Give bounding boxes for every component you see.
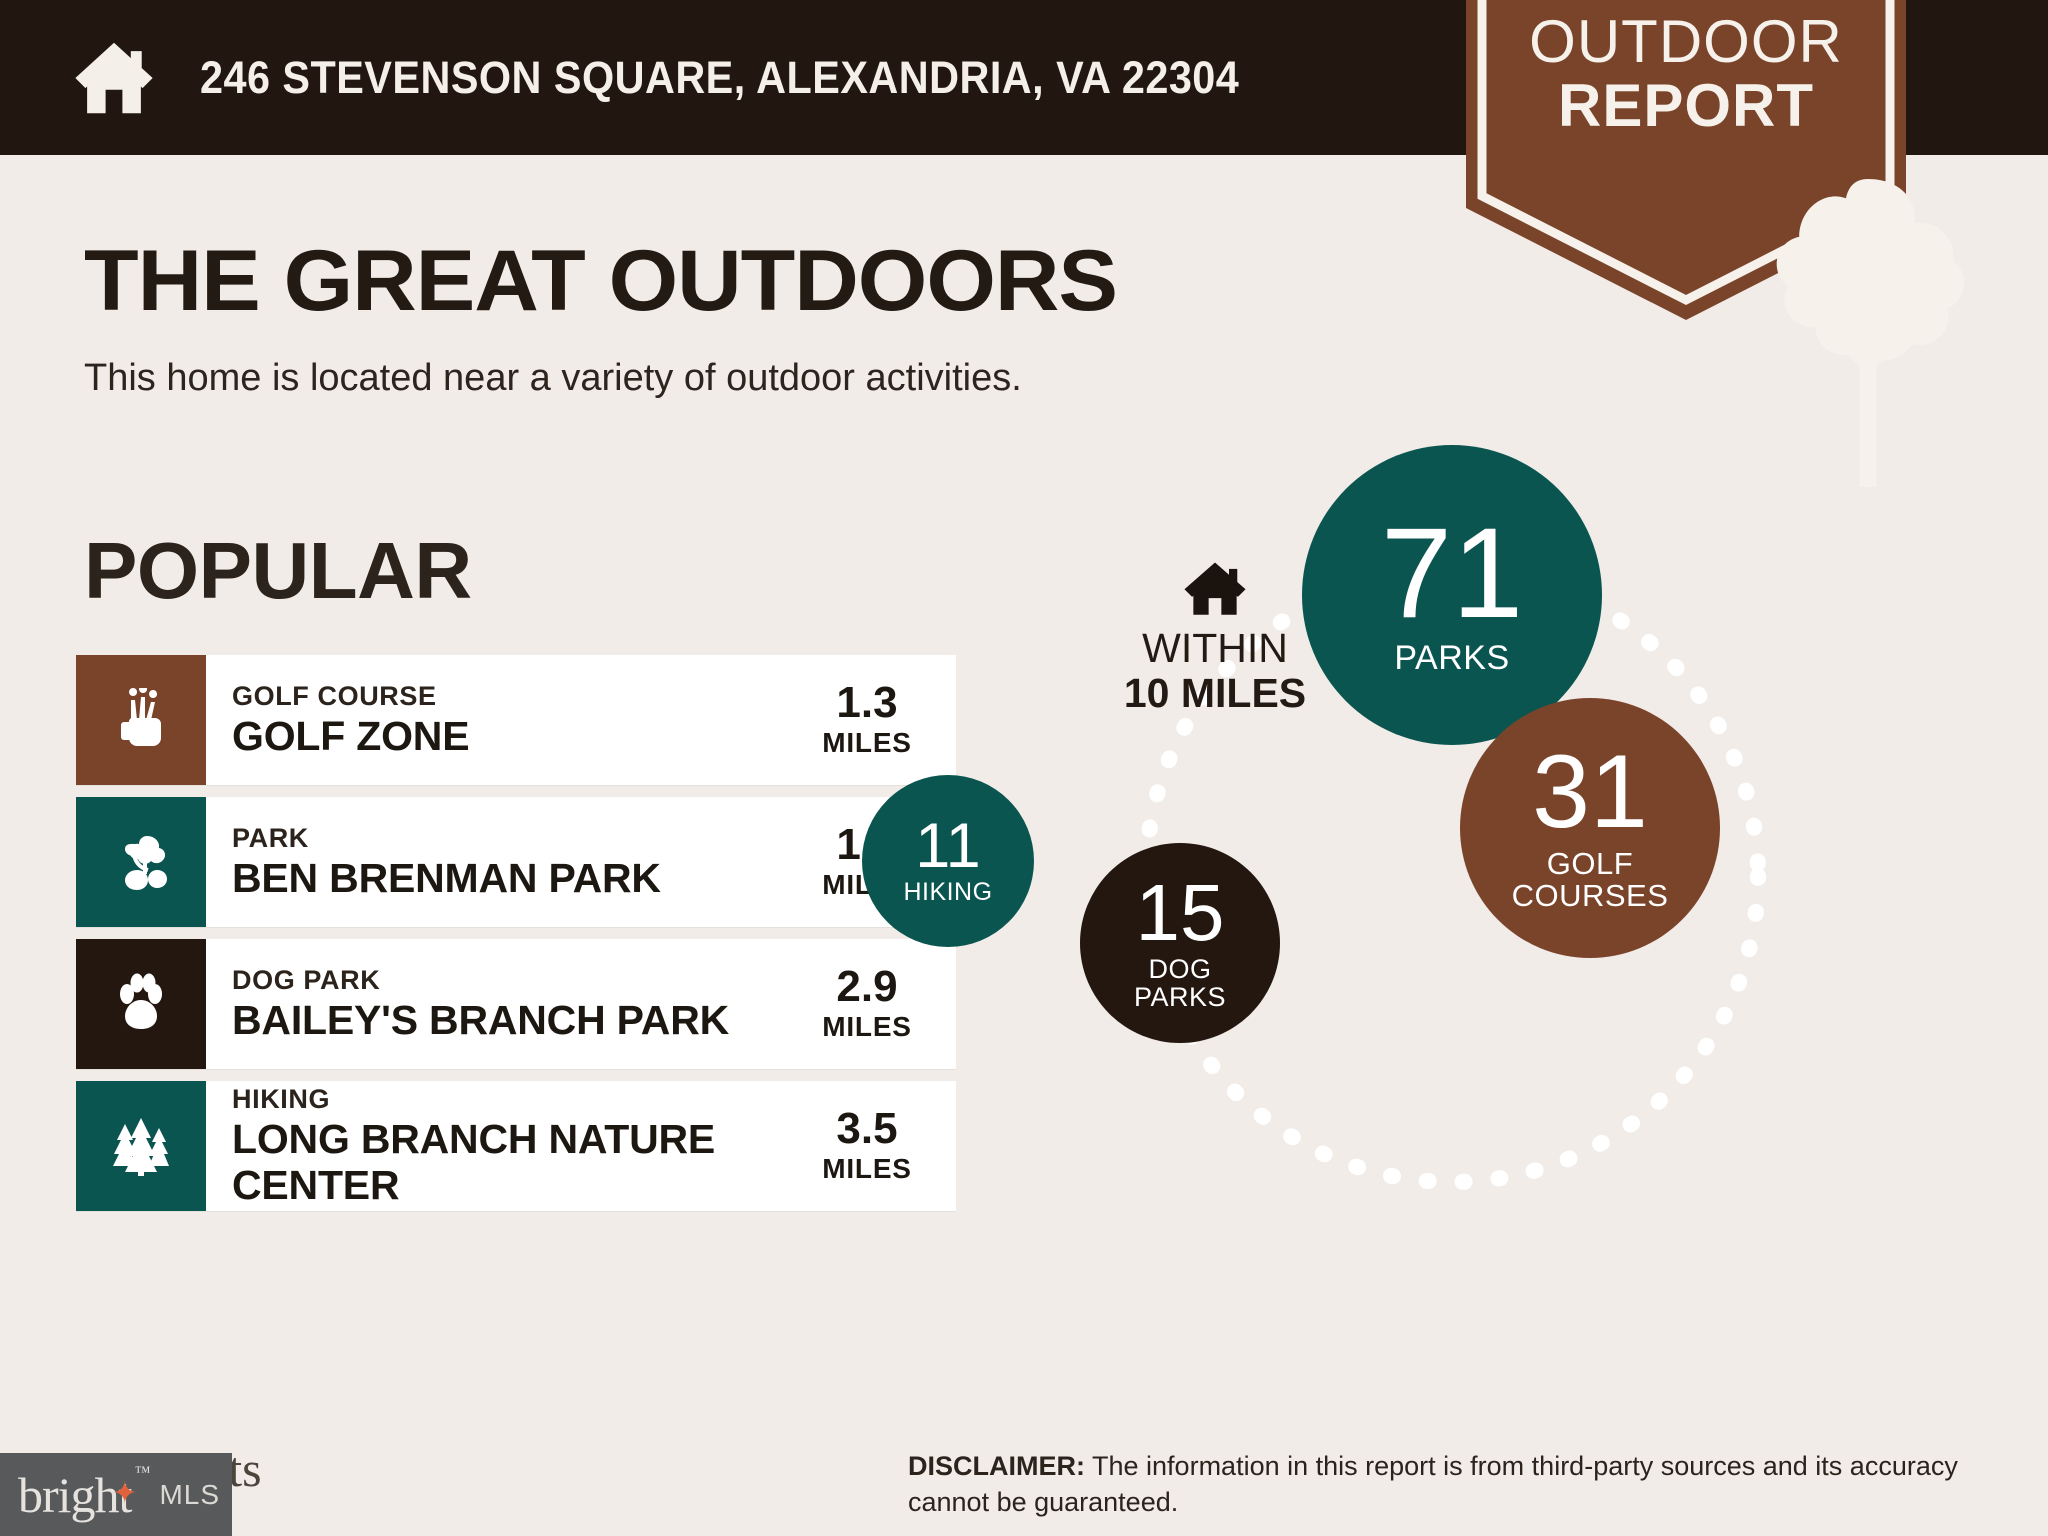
distance-value: 3.5 — [836, 1107, 897, 1151]
list-item-category: PARK — [232, 823, 796, 854]
popular-list: GOLF COURSE GOLF ZONE 1.3 MILES — [76, 655, 956, 1223]
badge-title: OUTDOOR REPORT — [1466, 12, 1906, 136]
chart-center-line2: 10 MILES — [1100, 671, 1330, 716]
disclaimer: DISCLAIMER: The information in this repo… — [908, 1448, 1988, 1521]
section-title-popular: POPULAR — [84, 525, 472, 617]
distance-value: 1.3 — [836, 681, 897, 725]
list-item-name: BAILEY'S BRANCH PARK — [232, 998, 796, 1044]
bubble-label: HIKING — [903, 879, 992, 905]
bubble-label-line1: GOLF — [1547, 846, 1633, 881]
list-item-name: LONG BRANCH NATURE CENTER — [232, 1117, 796, 1209]
outdoor-report-badge: OUTDOOR REPORT — [1466, 0, 1906, 320]
bright-mls-wordmark: bright✦™ — [18, 1466, 131, 1524]
page-subtitle: This home is located near a variety of o… — [84, 357, 1022, 400]
bright-mls-mls-text: MLS — [159, 1479, 220, 1511]
bubble-value: 31 — [1532, 743, 1648, 842]
property-address: 246 STEVENSON SQUARE, ALEXANDRIA, VA 223… — [200, 52, 1239, 104]
distance-value: 2.9 — [836, 965, 897, 1009]
distance-unit: MILES — [822, 1153, 912, 1185]
bubble-value: 11 — [915, 817, 980, 877]
bubble-label: PARKS — [1394, 641, 1509, 677]
outdoor-report-page: 246 STEVENSON SQUARE, ALEXANDRIA, VA 223… — [0, 0, 2048, 1536]
badge-title-line2: REPORT — [1466, 76, 1906, 136]
list-item-distance: 3.5 MILES — [796, 1081, 956, 1211]
list-item[interactable]: PARK BEN BRENMAN PARK 1.6 MILES — [76, 797, 956, 927]
within-10-miles-bubble-chart: WITHIN 10 MILES 71 PARKS 31 GOLF COURSES… — [1080, 430, 1980, 1310]
bubble-label: GOLF COURSES — [1512, 848, 1669, 913]
badge-title-line1: OUTDOOR — [1529, 8, 1843, 75]
disclaimer-label: DISCLAIMER: — [908, 1451, 1085, 1481]
bubble-label: DOG PARKS — [1134, 955, 1226, 1012]
list-item-category: HIKING — [232, 1084, 796, 1115]
bubble-value: 71 — [1381, 513, 1523, 635]
list-item-distance: 1.3 MILES — [796, 655, 956, 785]
bubble-parks[interactable]: 71 PARKS — [1302, 445, 1602, 745]
list-item-name: BEN BRENMAN PARK — [232, 856, 796, 902]
chart-center-label: WITHIN 10 MILES — [1100, 560, 1330, 716]
list-item-distance: 2.9 MILES — [796, 939, 956, 1069]
home-icon — [72, 36, 156, 120]
chart-center-line1: WITHIN — [1100, 626, 1330, 671]
list-item[interactable]: HIKING LONG BRANCH NATURE CENTER 3.5 MIL… — [76, 1081, 956, 1211]
home-icon — [1100, 560, 1330, 616]
bright-mls-logo: bright✦™ MLS — [0, 1453, 232, 1536]
trees-park-icon — [76, 797, 206, 927]
bubble-label-line2: PARKS — [1134, 982, 1226, 1012]
tree-icon — [1648, 168, 1724, 288]
page-title: THE GREAT OUTDOORS — [84, 232, 1117, 331]
bubble-hiking[interactable]: 11 HIKING — [862, 775, 1034, 947]
distance-unit: MILES — [822, 727, 912, 759]
bright-mls-tm: ™ — [135, 1464, 150, 1482]
bubble-label-line2: COURSES — [1512, 878, 1669, 913]
golf-bag-icon — [76, 655, 206, 785]
list-item-category: DOG PARK — [232, 965, 796, 996]
bubble-golf-courses[interactable]: 31 GOLF COURSES — [1460, 698, 1720, 958]
bubble-label-line1: DOG — [1148, 954, 1211, 984]
list-item-category: GOLF COURSE — [232, 681, 796, 712]
list-item[interactable]: GOLF COURSE GOLF ZONE 1.3 MILES — [76, 655, 956, 785]
list-item[interactable]: DOG PARK BAILEY'S BRANCH PARK 2.9 MILES — [76, 939, 956, 1069]
pine-trees-icon — [76, 1081, 206, 1211]
bright-mls-star-icon: ✦ — [112, 1476, 136, 1511]
bubble-dog-parks[interactable]: 15 DOG PARKS — [1080, 843, 1280, 1043]
list-item-name: GOLF ZONE — [232, 714, 796, 760]
paw-print-icon — [76, 939, 206, 1069]
distance-unit: MILES — [822, 1011, 912, 1043]
bubble-value: 15 — [1136, 875, 1225, 951]
